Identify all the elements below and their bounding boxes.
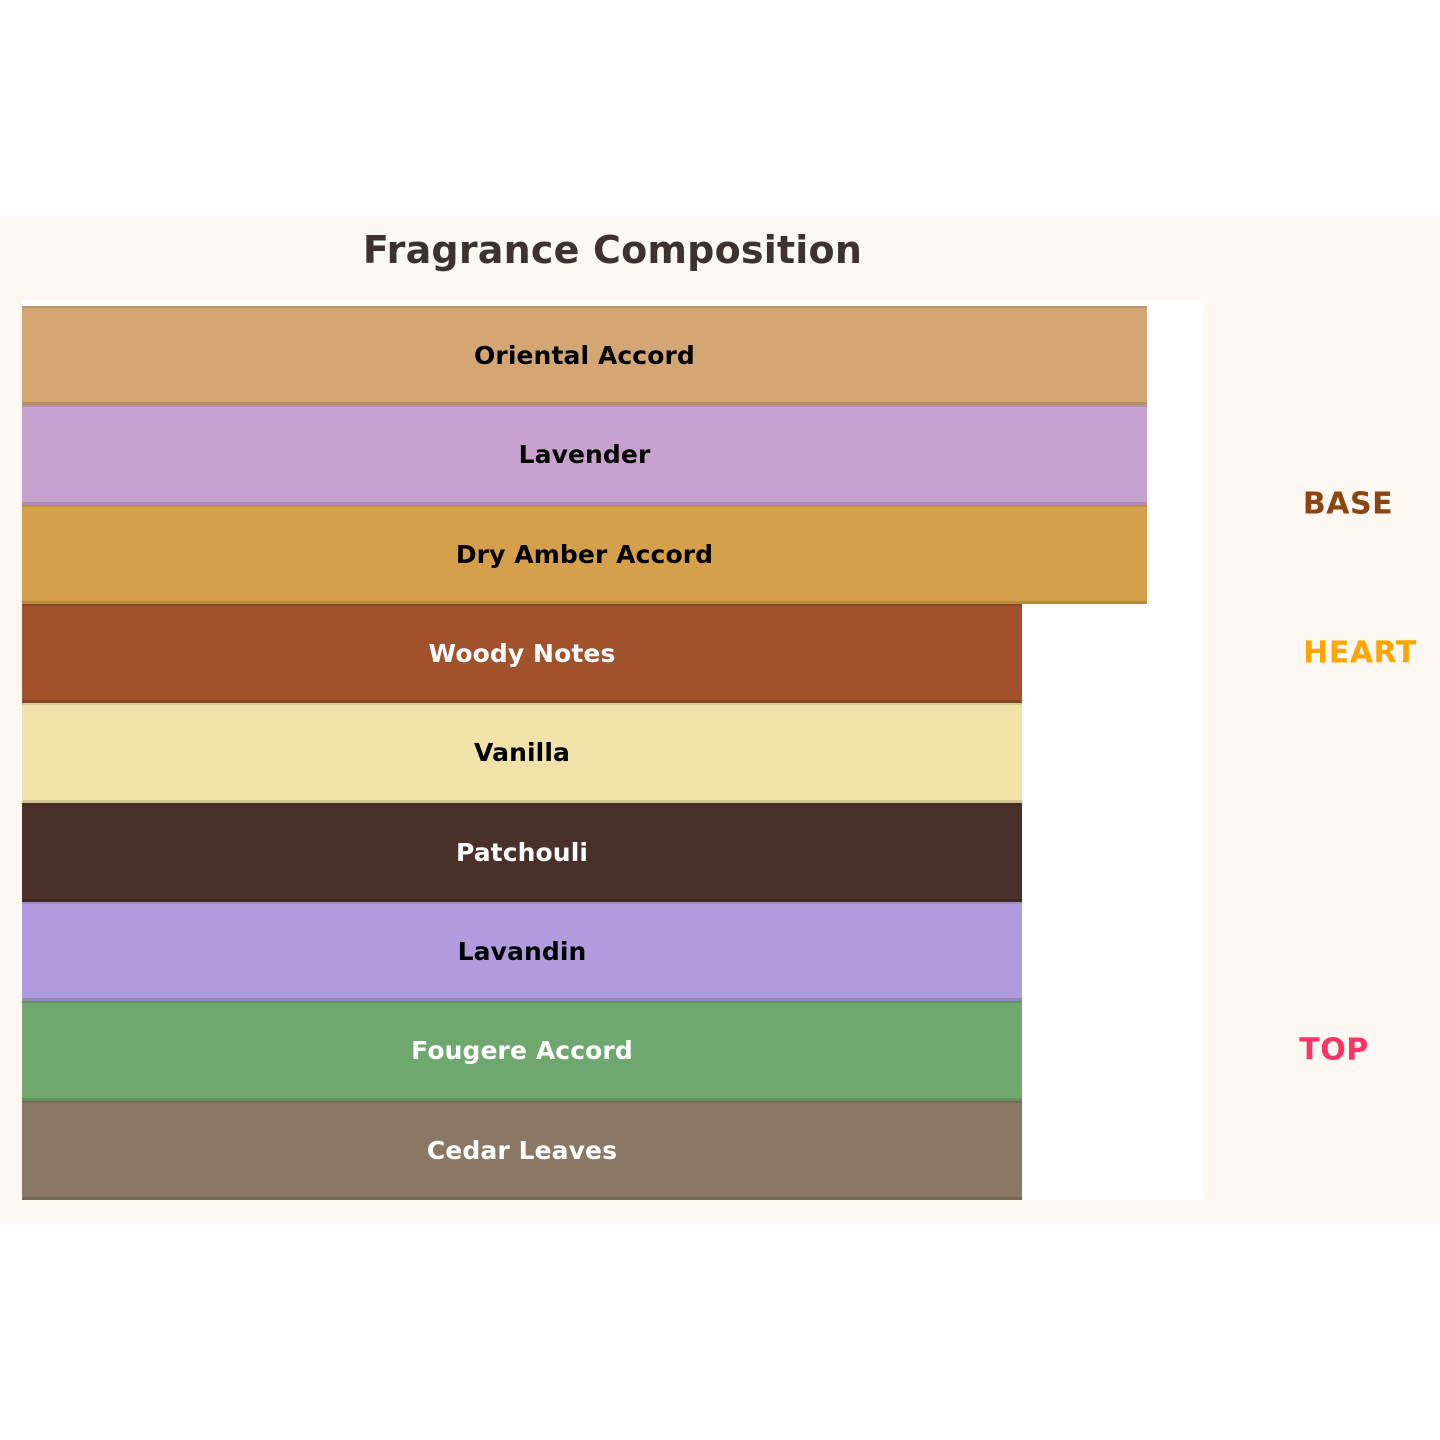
bar-label: Lavender <box>519 440 651 469</box>
bar-patchouli[interactable]: Patchouli <box>22 803 1022 902</box>
bar-dry-amber-accord[interactable]: Dry Amber Accord <box>22 505 1147 604</box>
bar-vanilla[interactable]: Vanilla <box>22 703 1022 802</box>
stage-label-base: BASE <box>1303 487 1393 522</box>
bar-woody-notes[interactable]: Woody Notes <box>22 604 1022 703</box>
bar-series: Oriental AccordLavenderDry Amber AccordW… <box>22 306 1203 1200</box>
bar-label: Patchouli <box>456 838 588 867</box>
bar-lavandin[interactable]: Lavandin <box>22 902 1022 1001</box>
bar-fougere-accord[interactable]: Fougere Accord <box>22 1001 1022 1100</box>
bar-cedar-leaves[interactable]: Cedar Leaves <box>22 1101 1022 1200</box>
stage-label-top: TOP <box>1299 1033 1368 1068</box>
bar-label: Cedar Leaves <box>427 1136 617 1165</box>
bar-label: Oriental Accord <box>474 341 695 370</box>
bar-label: Lavandin <box>458 937 587 966</box>
bar-label: Vanilla <box>474 738 570 767</box>
page-title: Fragrance Composition <box>22 228 1203 272</box>
bar-oriental-accord[interactable]: Oriental Accord <box>22 306 1147 405</box>
chart-canvas: Fragrance Composition Oriental AccordLav… <box>0 0 1440 1440</box>
bar-label: Dry Amber Accord <box>456 540 713 569</box>
bar-lavender[interactable]: Lavender <box>22 405 1147 504</box>
bar-label: Woody Notes <box>429 639 616 668</box>
stage-label-heart: HEART <box>1303 636 1417 671</box>
bar-label: Fougere Accord <box>411 1036 633 1065</box>
